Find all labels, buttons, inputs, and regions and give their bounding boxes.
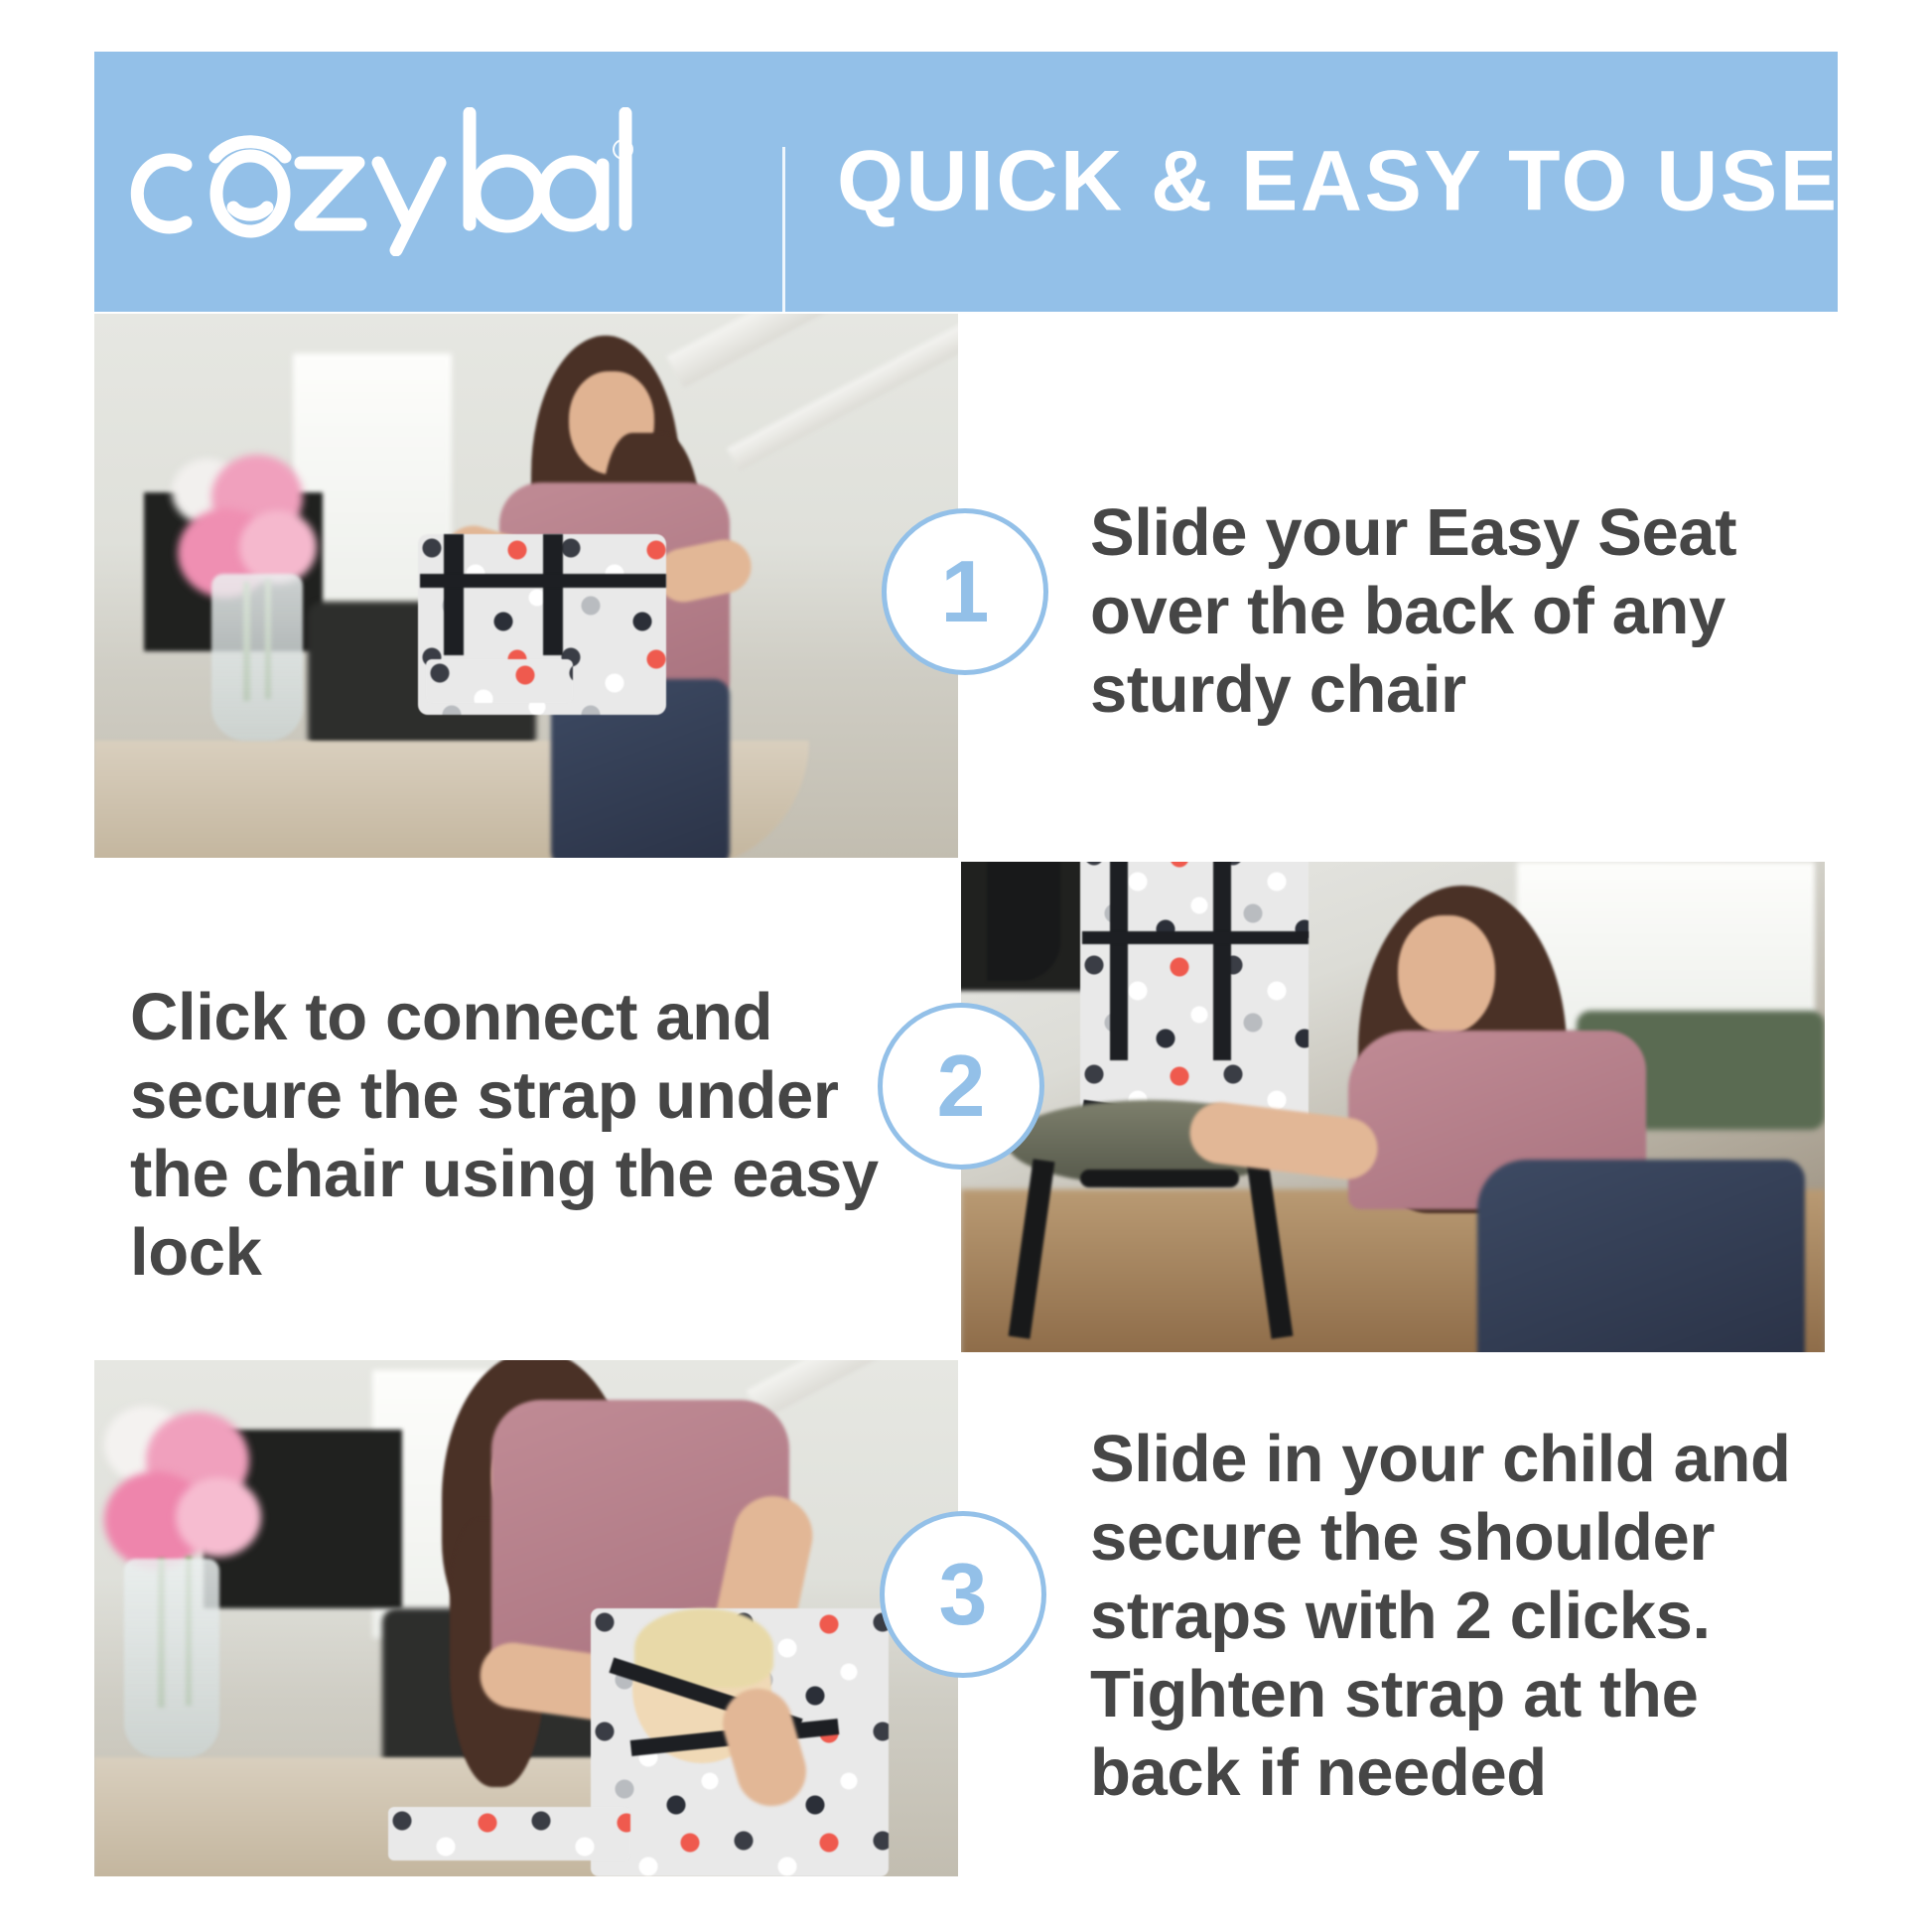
registered-trademark-icon: ® <box>613 139 633 160</box>
step-2-number: 2 <box>937 1042 986 1130</box>
header-bar: ® QUICK & EASY TO USE <box>94 52 1838 312</box>
step-3-text: Slide in your child and secure the shoul… <box>1090 1420 1845 1812</box>
step-3-number-badge: 3 <box>880 1511 1046 1678</box>
header-divider <box>782 147 785 324</box>
brand-logo: ® <box>94 52 650 312</box>
step-2-text: Click to connect and secure the strap un… <box>130 978 885 1292</box>
step-3-photo <box>94 1360 958 1876</box>
step-1-number: 1 <box>941 548 990 635</box>
page-title: QUICK & EASY TO USE <box>837 133 1840 231</box>
infographic-page: ® QUICK & EASY TO USE <box>0 0 1932 1932</box>
step-2-photo <box>961 862 1825 1352</box>
step-1-photo <box>94 314 958 858</box>
step-3-number: 3 <box>939 1551 988 1638</box>
cozybaby-wordmark-icon <box>124 107 640 256</box>
step-2-number-badge: 2 <box>878 1003 1044 1170</box>
step-1-number-badge: 1 <box>882 508 1048 675</box>
step-1-text: Slide your Easy Seat over the back of an… <box>1090 493 1825 729</box>
